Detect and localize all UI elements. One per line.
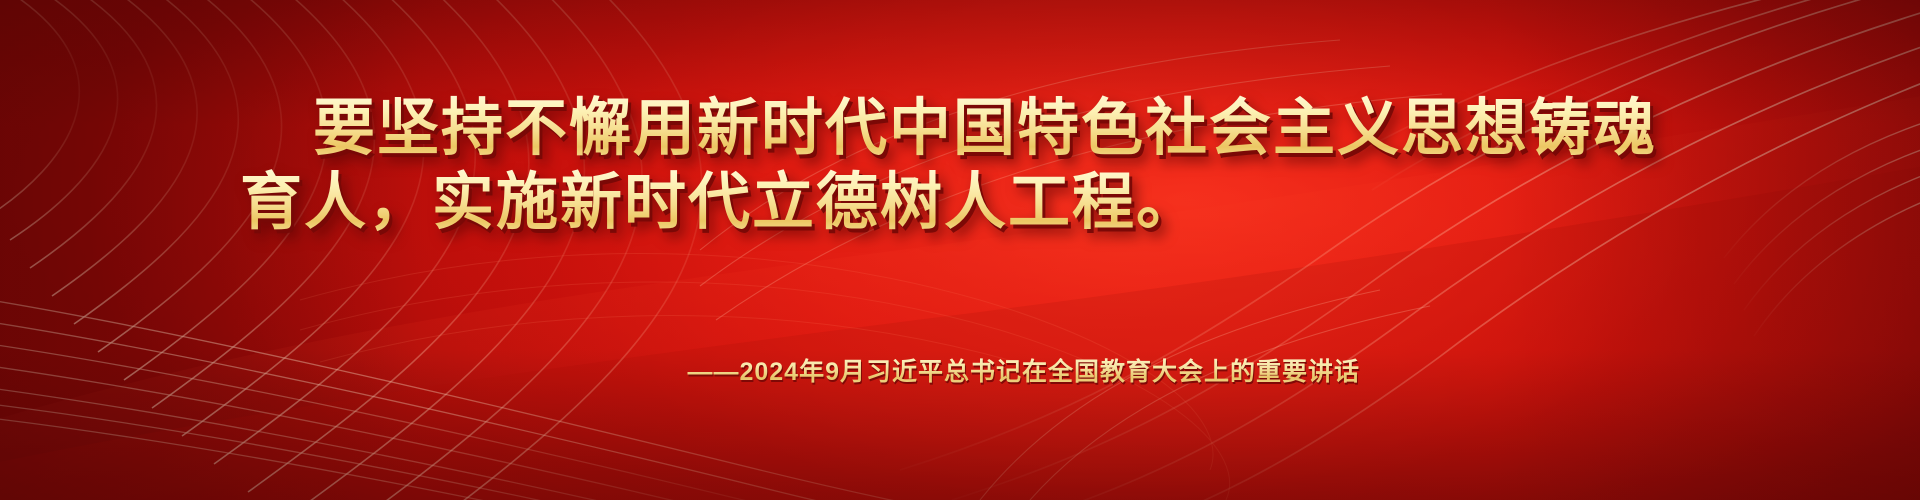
slogan-banner: 要坚持不懈用新时代中国特色社会主义思想铸魂 育人，实施新时代立德树人工程。 ——…	[0, 0, 1920, 500]
background-decorative-lines	[0, 0, 1920, 500]
quote-block: 要坚持不懈用新时代中国特色社会主义思想铸魂 育人，实施新时代立德树人工程。	[0, 92, 1920, 240]
quote-line-2: 育人，实施新时代立德树人工程。	[0, 166, 1920, 240]
quote-line-1: 要坚持不懈用新时代中国特色社会主义思想铸魂	[0, 92, 1920, 166]
attribution-row: ——2024年9月习近平总书记在全国教育大会上的重要讲话	[0, 352, 1920, 388]
attribution-text: ——2024年9月习近平总书记在全国教育大会上的重要讲话	[687, 352, 1360, 388]
